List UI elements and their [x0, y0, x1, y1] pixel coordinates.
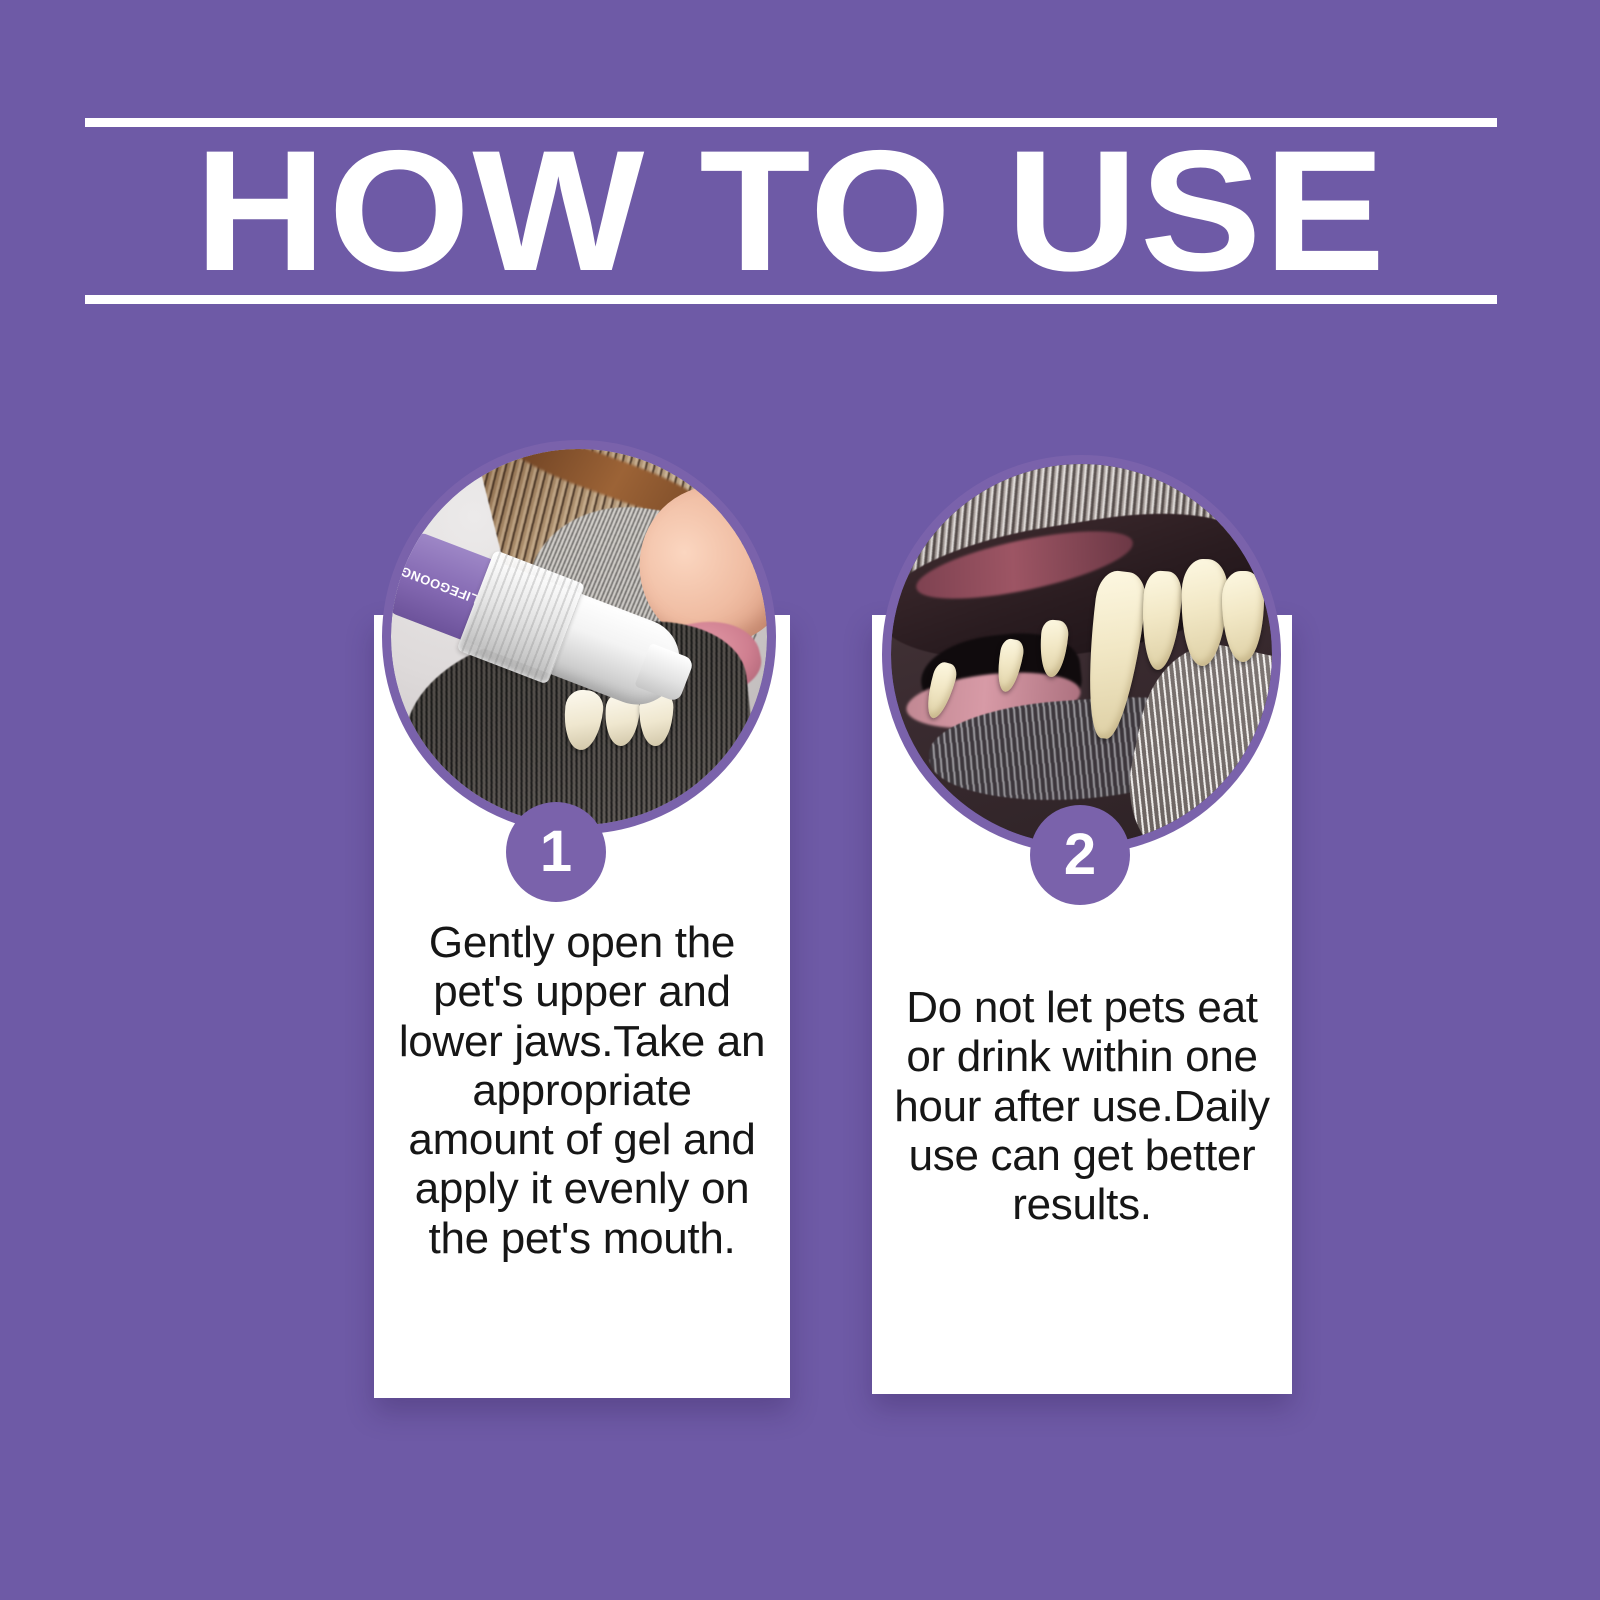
step-1-photo: LIFEGOONG — [382, 440, 776, 834]
title-rule-bottom — [85, 295, 1497, 304]
step-number-badge-1: 1 — [506, 802, 606, 902]
dog-teeth-closeup-image — [891, 464, 1272, 845]
page-title: HOW TO USE — [43, 127, 1540, 295]
step-number-badge-2: 2 — [1030, 805, 1130, 905]
cat-mouth-gel-applicator-image: LIFEGOONG — [391, 449, 767, 825]
step-1-description: Gently open the pet's upper and lower ja… — [396, 918, 768, 1263]
header: HOW TO USE — [85, 118, 1497, 304]
step-2-photo — [882, 455, 1281, 854]
step-number-2: 2 — [1064, 826, 1096, 884]
infographic-canvas: HOW TO USE LIFEGOONG — [0, 0, 1600, 1600]
step-2-description: Do not let pets eat or drink within one … — [894, 983, 1270, 1229]
tube-brand-text: LIFEGOONG — [398, 564, 480, 608]
step-number-1: 1 — [540, 823, 572, 881]
